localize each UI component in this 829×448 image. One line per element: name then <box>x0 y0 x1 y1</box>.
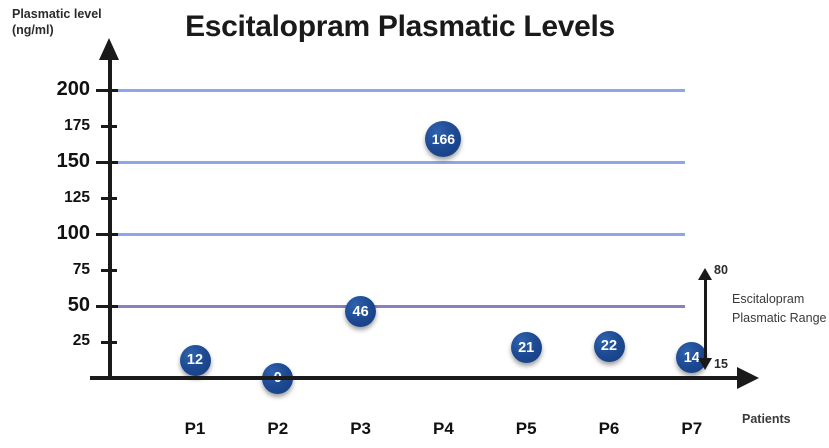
range-arrow-shaft <box>704 276 707 362</box>
y-axis-title: Plasmatic level (ng/ml) <box>12 6 104 38</box>
data-point-P3[interactable]: 46 <box>345 296 376 327</box>
y-tick-label-25: 25 <box>73 332 90 350</box>
y-tick-label-125: 125 <box>64 189 90 207</box>
y-tick-label-75: 75 <box>73 261 90 279</box>
y-tick-label-200: 200 <box>57 78 90 101</box>
x-label-P3: P3 <box>331 419 391 439</box>
y-tick-50 <box>96 305 118 308</box>
y-tick-100 <box>96 233 118 236</box>
y-axis-line <box>108 56 112 380</box>
y-tick-label-100: 100 <box>57 222 90 245</box>
y-axis-arrow-icon <box>99 38 119 60</box>
y-tick-label-50: 50 <box>68 294 90 317</box>
data-point-P4[interactable]: 166 <box>425 121 461 157</box>
y-tick-150 <box>96 161 118 164</box>
x-axis-arrow-icon <box>737 367 759 389</box>
range-lower-bound-label: 15 <box>714 357 728 371</box>
range-caption: Escitalopram Plasmatic Range <box>732 290 829 328</box>
gridline-100 <box>112 233 685 236</box>
x-axis-title: Patients <box>742 412 791 426</box>
x-label-P2: P2 <box>248 419 308 439</box>
range-arrow-down-icon <box>698 358 712 370</box>
escitalopram-plasmatic-levels-chart: Escitalopram Plasmatic Levels Plasmatic … <box>0 0 829 448</box>
data-point-P6[interactable]: 22 <box>594 331 625 362</box>
data-point-P5[interactable]: 21 <box>511 332 542 363</box>
x-axis-line <box>90 376 740 380</box>
x-label-P6: P6 <box>579 419 639 439</box>
range-upper-bound-label: 80 <box>714 263 728 277</box>
y-tick-label-150: 150 <box>57 150 90 173</box>
y-tick-label-175: 175 <box>64 117 90 135</box>
data-point-P1[interactable]: 12 <box>180 345 211 376</box>
gridline-200 <box>112 89 685 92</box>
x-label-P4: P4 <box>413 419 473 439</box>
gridline-50 <box>112 305 685 308</box>
y-tick-200 <box>96 89 118 92</box>
x-label-P7: P7 <box>662 419 722 439</box>
x-label-P1: P1 <box>165 419 225 439</box>
x-label-P5: P5 <box>496 419 556 439</box>
chart-title: Escitalopram Plasmatic Levels <box>150 10 650 44</box>
gridline-150 <box>112 161 685 164</box>
